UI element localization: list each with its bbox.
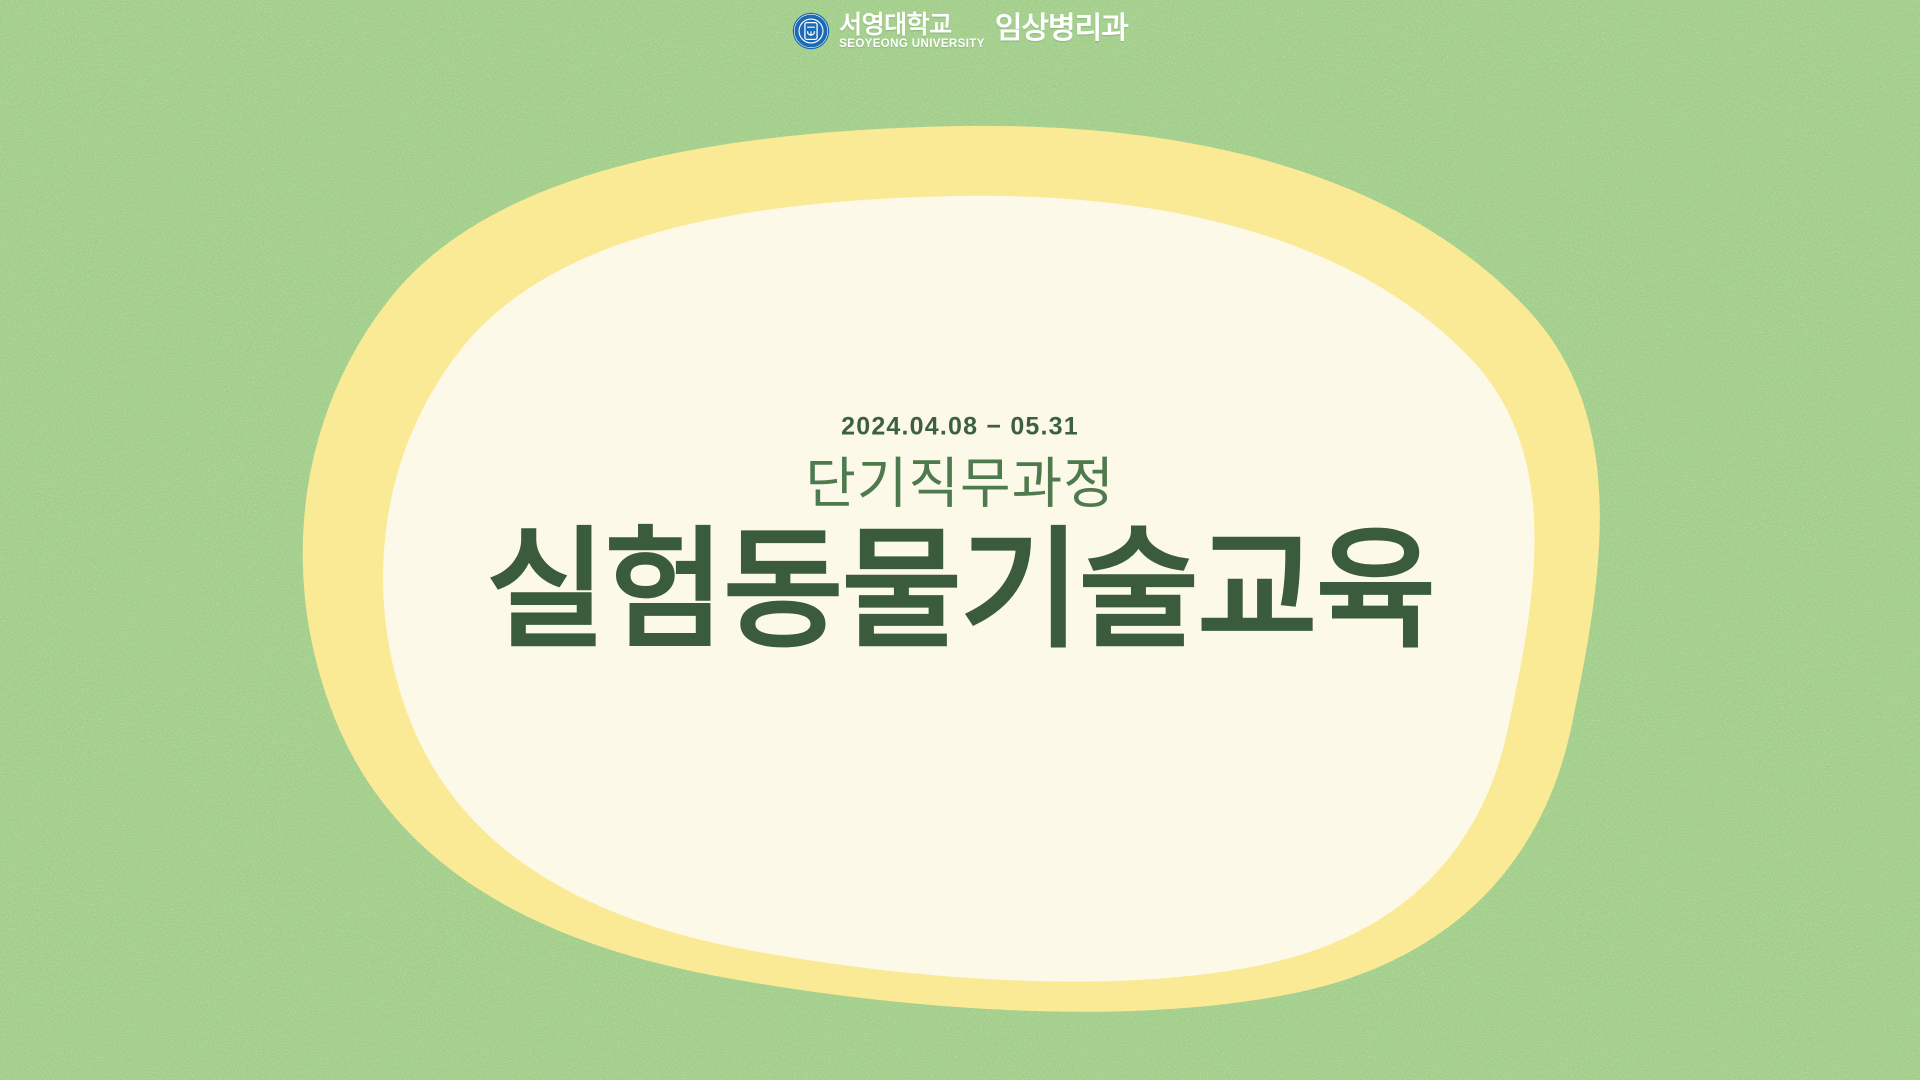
university-name-latin: SEOYEONG UNIVERSITY (839, 39, 985, 51)
course-subtitle: 단기직무과정 (370, 453, 1550, 515)
university-name-block: 서영대학교 SEOYEONG UNIVERSITY (839, 12, 985, 51)
brand-lockup: 서영대학교 SEOYEONG UNIVERSITY 임상병리과 (839, 12, 1128, 51)
course-date-range: 2024.04.08 − 05.31 (370, 414, 1550, 439)
course-info-block: 2024.04.08 − 05.31 단기직무과정 실험동물기술교육 (370, 414, 1550, 659)
university-name-korean: 서영대학교 (839, 12, 952, 38)
department-name: 임상병리과 (995, 14, 1128, 44)
university-seal-icon (792, 12, 830, 50)
poster-canvas: 서영대학교 SEOYEONG UNIVERSITY 임상병리과 2024.04.… (0, 0, 1920, 1080)
course-title: 실험동물기술교육 (370, 521, 1550, 660)
header-branding-bar: 서영대학교 SEOYEONG UNIVERSITY 임상병리과 (0, 0, 1920, 62)
